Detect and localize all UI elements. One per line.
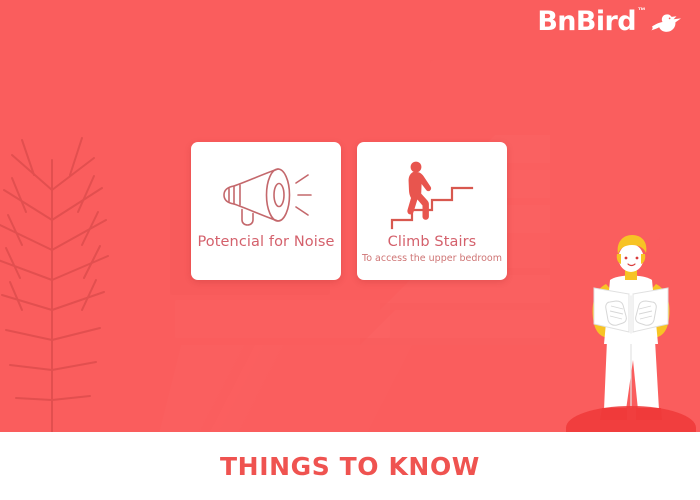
brand-name: BnBird: [537, 6, 636, 37]
hero-section: BnBird ™: [0, 0, 700, 432]
trademark-symbol: ™: [638, 7, 645, 15]
reader-figure: [566, 232, 696, 432]
card-title: Climb Stairs: [388, 234, 477, 251]
person-climbing-stairs-icon: [386, 156, 478, 234]
slide-screen: BnBird ™: [0, 0, 700, 500]
megaphone-icon: [218, 156, 314, 234]
card-subtitle: To access the upper bedroom: [362, 254, 502, 264]
brand-logo[interactable]: BnBird ™: [537, 8, 682, 35]
background-plant: [0, 120, 132, 432]
info-card-stairs[interactable]: Climb Stairs To access the upper bedroom: [357, 142, 507, 280]
info-card-list: Potencial for Noise: [191, 142, 507, 280]
background-floor: [159, 345, 511, 432]
info-card-noise[interactable]: Potencial for Noise: [191, 142, 341, 280]
card-title: Potencial for Noise: [197, 234, 334, 251]
person-reading-book-illustration: [566, 232, 696, 432]
background-tv-stand: [175, 300, 390, 338]
footer-section: THINGS TO KNOW: [0, 432, 700, 500]
brand-wordmark: BnBird ™: [537, 8, 636, 35]
footer-caption: THINGS TO KNOW: [220, 452, 480, 481]
bird-icon: [650, 10, 682, 34]
